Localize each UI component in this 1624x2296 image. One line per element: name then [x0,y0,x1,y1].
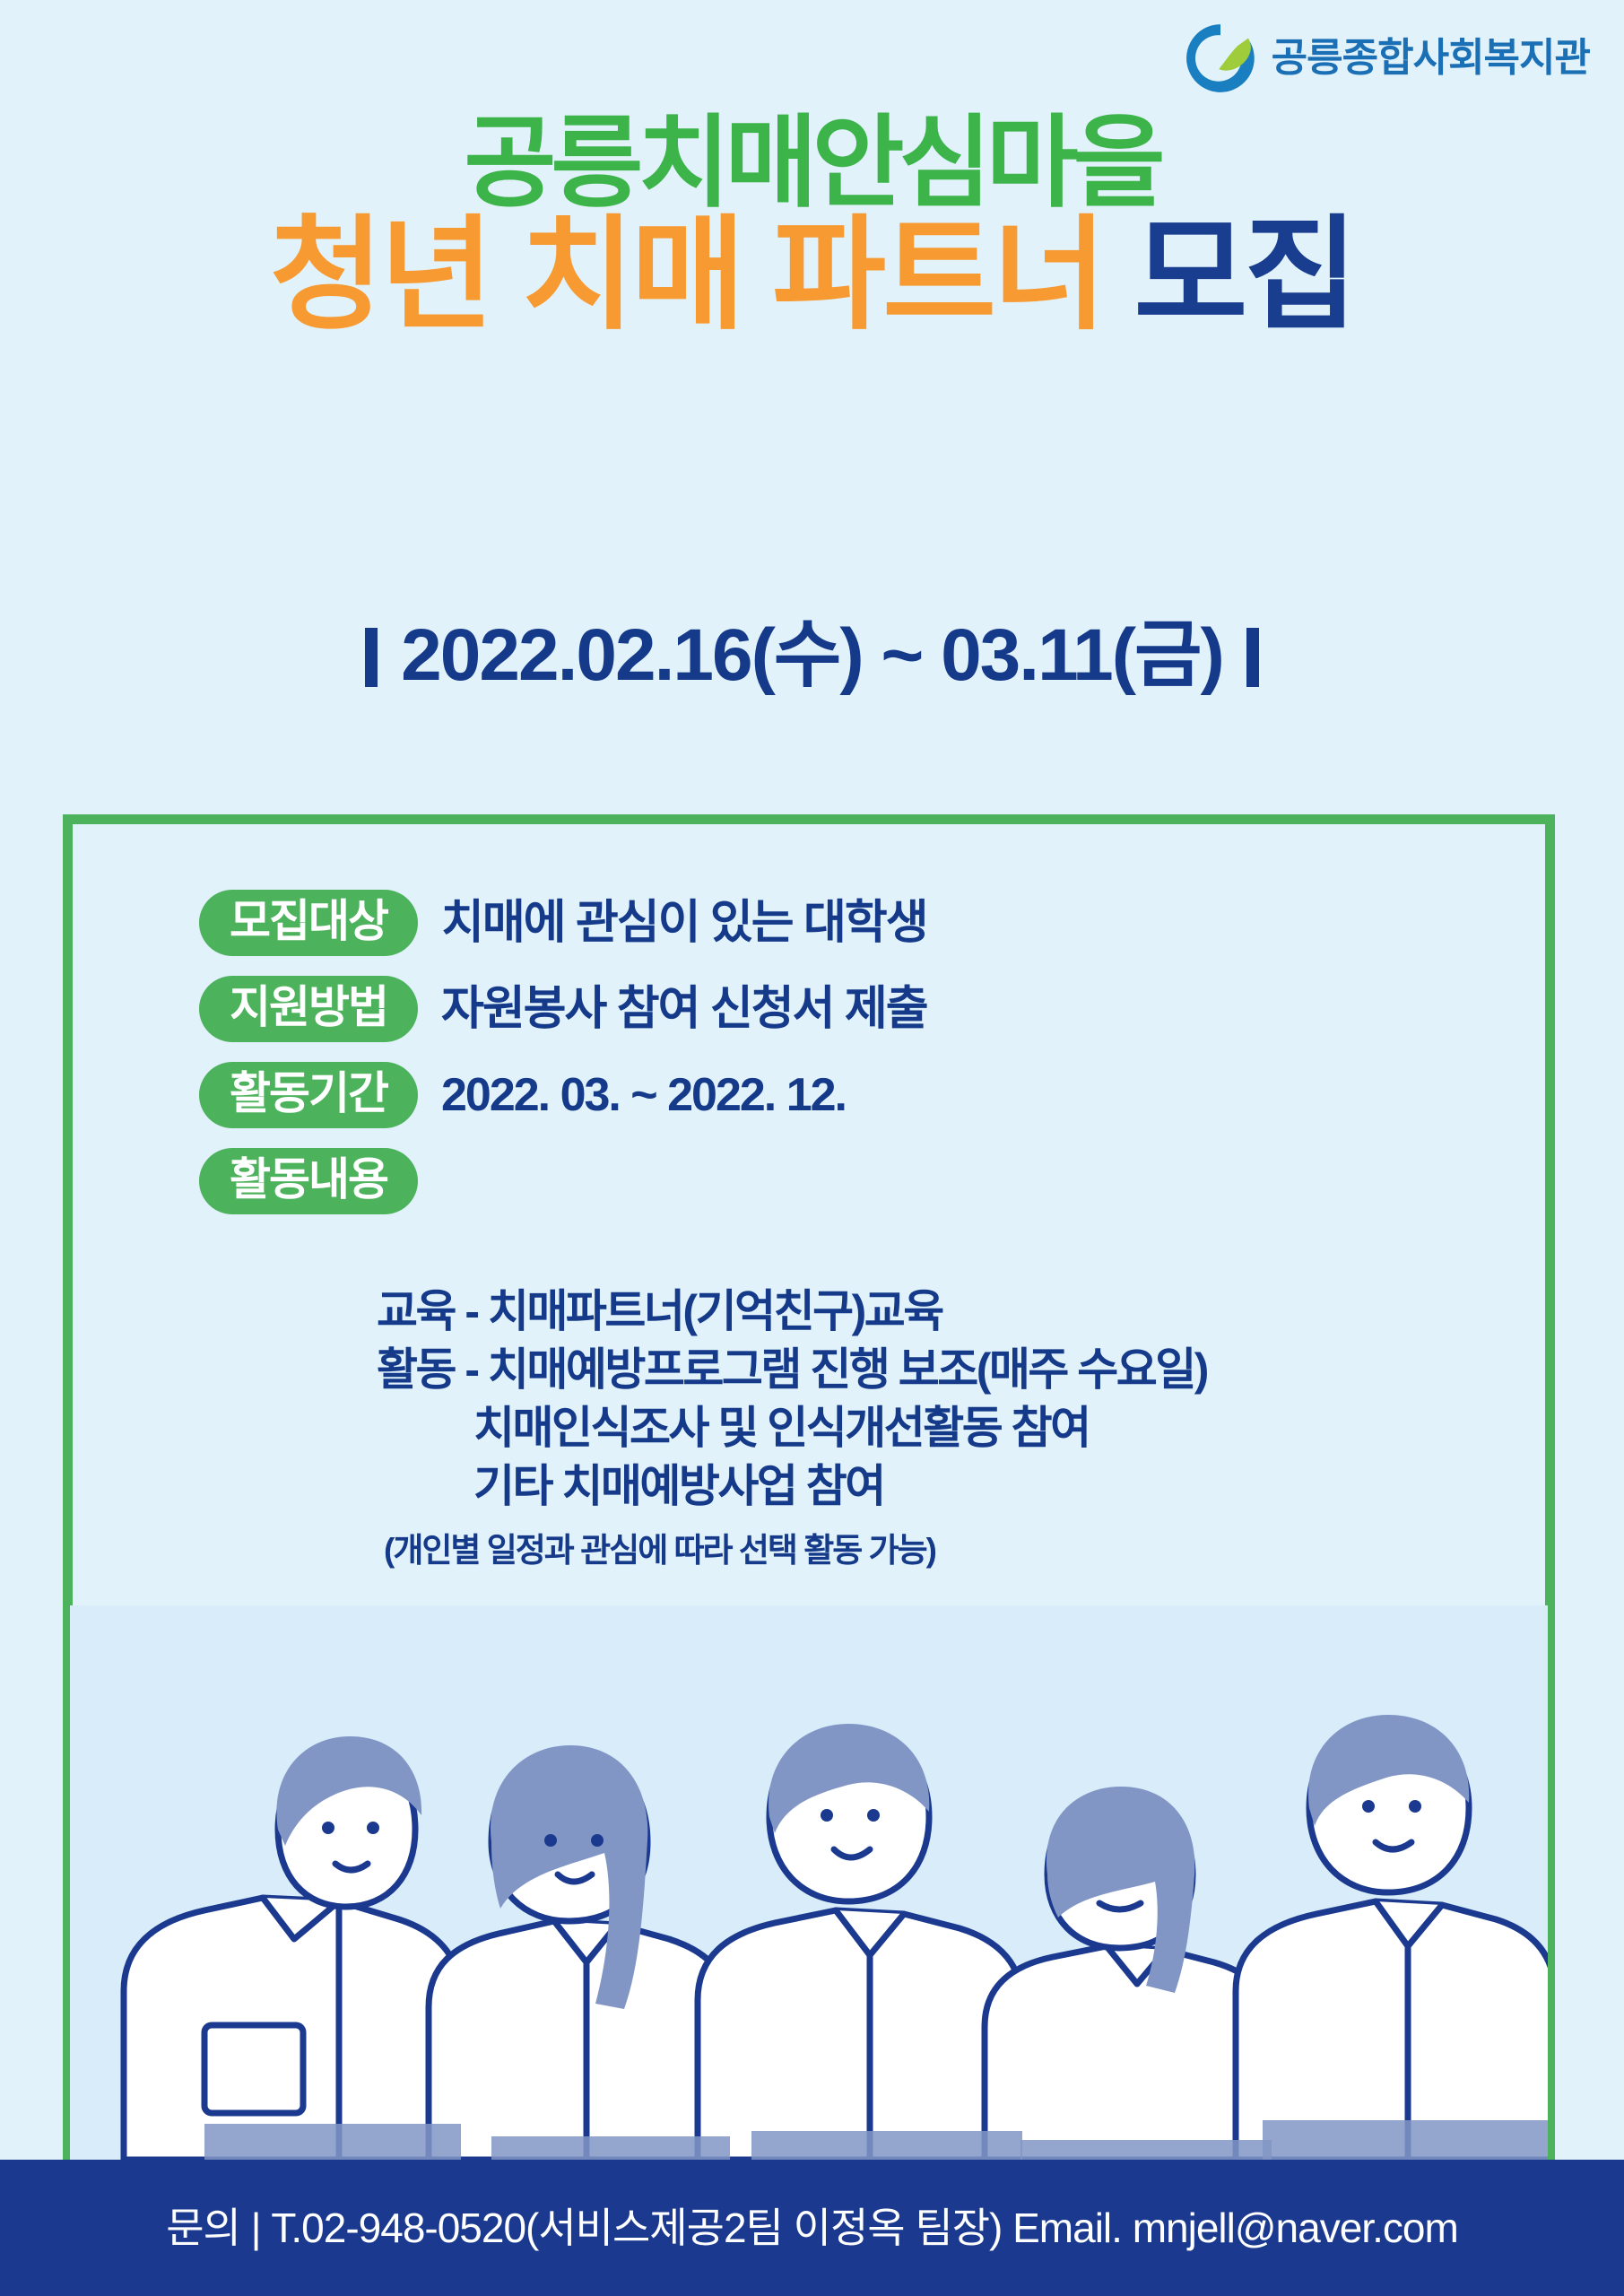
info-row-apply-method: 지원방법 자원봉사 참여 신청서 제출 [199,976,1455,1042]
circle-leaf-logo-icon [1182,20,1259,97]
contact-text: 문의 | T.02-948-0520(서비스제공2팀 이정옥 팀장) Email… [166,2207,1458,2248]
info-row-activity-content: 활동내용 [199,1148,1455,1214]
date-divider-left-icon [365,628,378,687]
activity-line-survey: 치매인식조사 및 인식개선활동 참여 [377,1399,1507,1457]
value-activity-period: 2022. 03. ~ 2022. 12. [441,1072,846,1118]
activity-line-activity: 활동 - 치매예방프로그램 진행 보조(매주 수요일) [377,1341,1507,1399]
title-line-1: 공릉치매안심마을 [0,113,1624,213]
five-young-people-line-art [70,1605,1548,2160]
contact-footer-bar: 문의 | T.02-948-0520(서비스제공2팀 이정옥 팀장) Email… [0,2160,1624,2296]
value-recruitment-target: 치매에 관심이 있는 대학생 [441,900,927,946]
info-row-activity-period: 활동기간 2022. 03. ~ 2022. 12. [199,1062,1455,1128]
recruitment-period: 2022.02.16(수) ~ 03.11(금) [0,619,1624,692]
label-activity-content: 활동내용 [199,1148,418,1214]
activity-line-education: 교육 - 치매파트너(기억친구)교육 [377,1283,1507,1341]
label-recruitment-target: 모집대상 [199,890,418,956]
value-apply-method: 자원봉사 참여 신청서 제출 [441,986,927,1032]
date-text: 2022.02.16(수) ~ 03.11(금) [401,614,1223,696]
activity-detail-list: 교육 - 치매파트너(기억친구)교육 활동 - 치매예방프로그램 진행 보조(매… [377,1283,1507,1571]
label-activity-period: 활동기간 [199,1062,418,1128]
label-apply-method: 지원방법 [199,976,418,1042]
activity-note: (개인별 일정과 관심에 따라 선택 활동 가능) [377,1523,1507,1571]
date-divider-right-icon [1246,628,1259,687]
title-orange-part: 청년 치매 파트너 [270,206,1103,344]
info-rows: 모집대상 치매에 관심이 있는 대학생 지원방법 자원봉사 참여 신청서 제출 … [199,890,1455,1234]
title-line-2: 청년 치매 파트너 모집 [0,213,1624,337]
title-navy-part: 모집 [1133,206,1354,344]
organization-name: 공릉종합사회복지관 [1272,39,1590,78]
poster-root: 공릉종합사회복지관 공릉치매안심마을 청년 치매 파트너 모집 2022.02.… [0,0,1624,2296]
info-row-target: 모집대상 치매에 관심이 있는 대학생 [199,890,1455,956]
organization-logo: 공릉종합사회복지관 [1182,20,1590,97]
activity-line-other: 기타 치매예방사업 참여 [377,1457,1507,1516]
